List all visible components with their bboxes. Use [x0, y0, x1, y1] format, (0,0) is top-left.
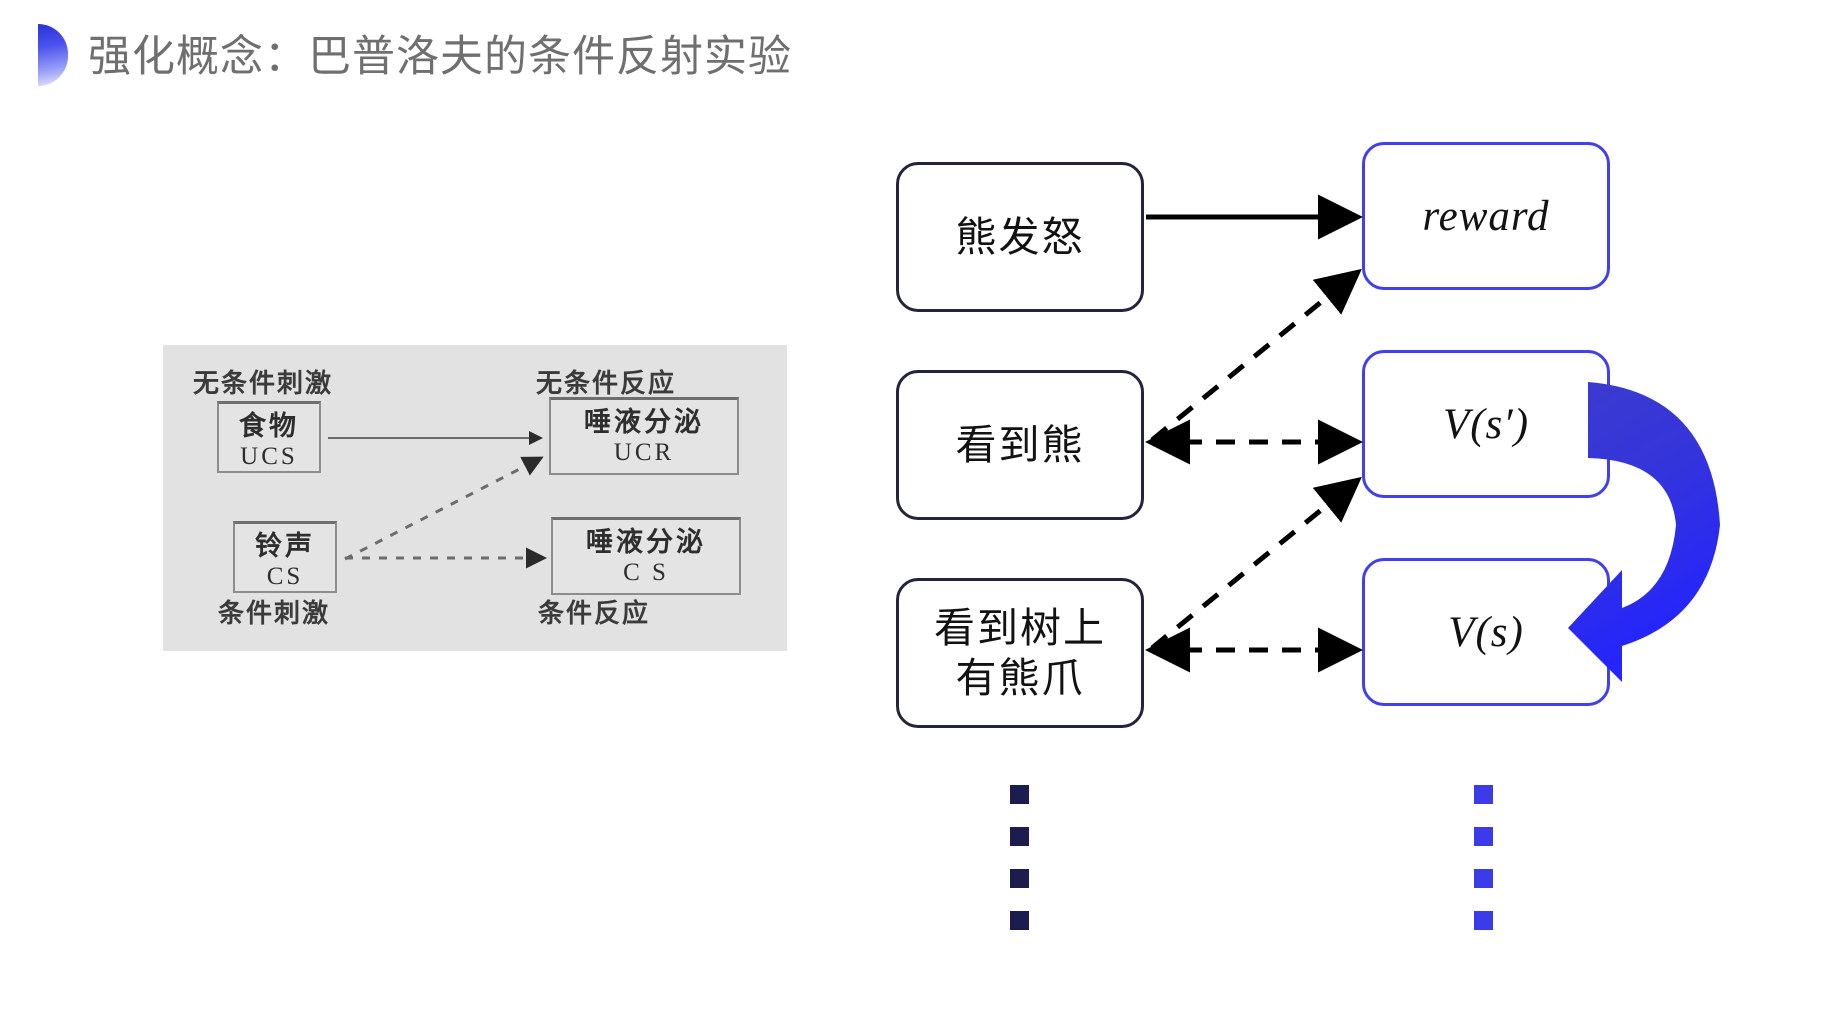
dot — [1010, 785, 1029, 804]
page-title: 强化概念：巴普洛夫的条件反射实验 — [88, 28, 792, 86]
continuation-dots-right — [1474, 785, 1494, 953]
dot — [1010, 869, 1029, 888]
curved-loop-arrow-icon — [1560, 360, 1760, 690]
dot — [1010, 827, 1029, 846]
half-circle-gradient-icon — [38, 24, 68, 86]
slide-header: 强化概念：巴普洛夫的条件反射实验 — [0, 0, 1826, 120]
edge-see-bear-to-reward — [1152, 272, 1358, 440]
dot — [1474, 785, 1493, 804]
reinforcement-flow-diagram: 熊发怒 看到熊 看到树上 有熊爪 reward V(s′) V(s) — [860, 120, 1826, 920]
dot — [1474, 911, 1493, 930]
pavlov-experiment-figure: 无条件刺激 无条件反应 条件刺激 条件反应 食物 UCS 唾液分泌 UCR 铃声… — [163, 345, 787, 651]
dot — [1474, 869, 1493, 888]
dot — [1010, 911, 1029, 930]
continuation-dots-left — [1010, 785, 1030, 953]
edge-see-claw-to-v-s-prime — [1152, 480, 1358, 648]
pavlov-arrows — [163, 345, 787, 651]
dot — [1474, 827, 1493, 846]
